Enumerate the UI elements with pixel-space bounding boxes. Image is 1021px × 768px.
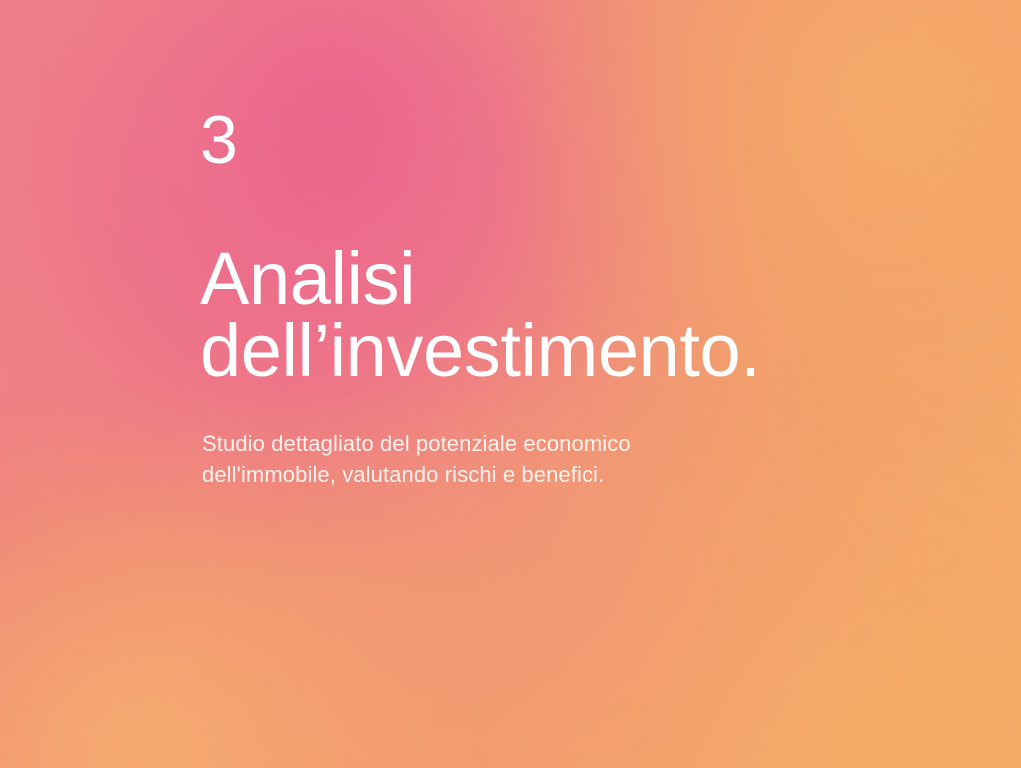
section-subtitle: Studio dettagliato del potenziale econom… bbox=[202, 428, 822, 490]
section-divider-slide: 3 Analisi dell’investimento. Studio dett… bbox=[0, 0, 1021, 768]
section-number: 3 bbox=[200, 106, 238, 174]
page-title: Analisi dell’investimento. bbox=[200, 243, 920, 387]
slide-content: 3 Analisi dell’investimento. Studio dett… bbox=[200, 0, 960, 768]
